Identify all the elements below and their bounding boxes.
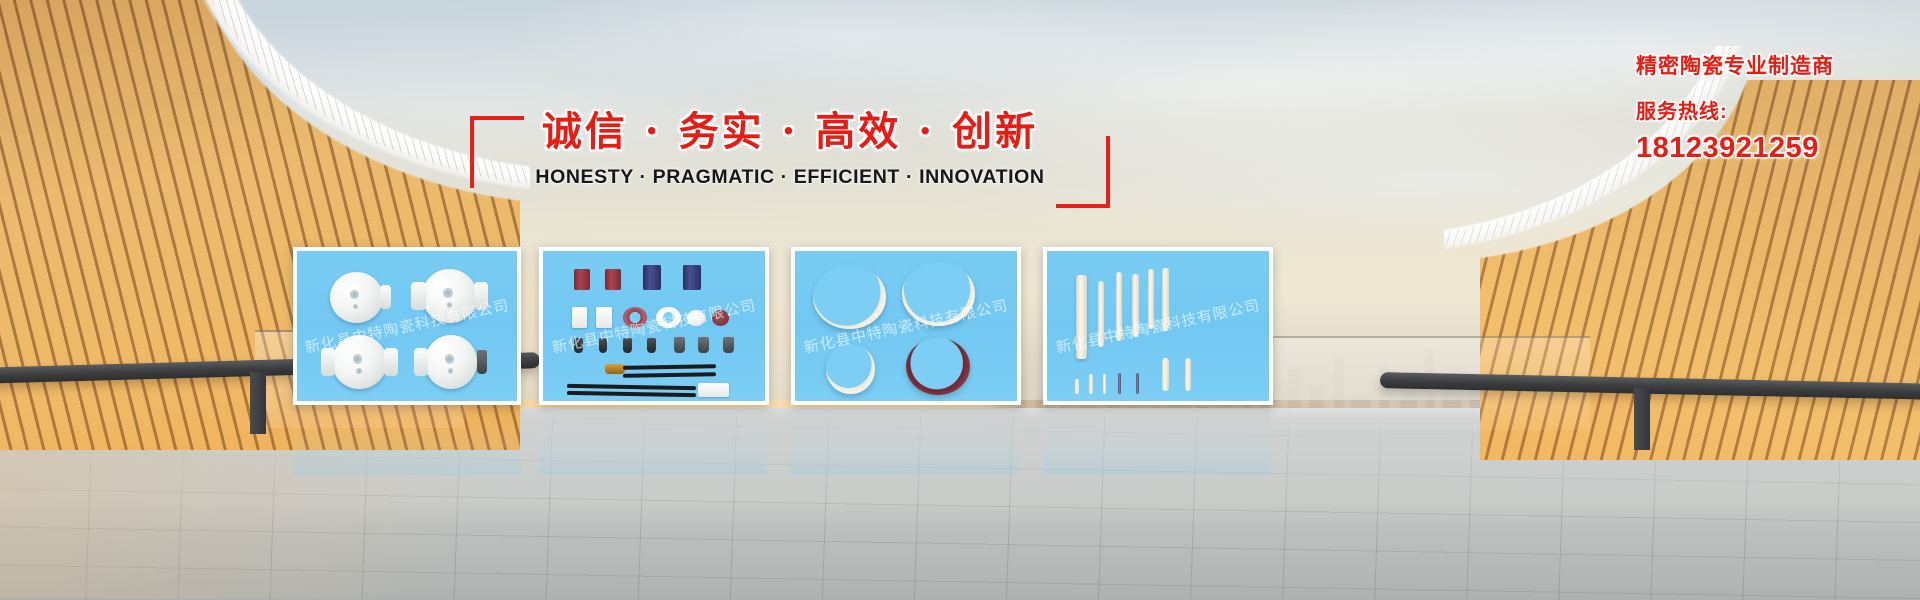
panel-reflection-3 <box>791 405 1019 475</box>
hotline-label: 服务热线: <box>1636 98 1834 126</box>
slogan-chinese: 诚信 · 务实 · 高效 · 创新 <box>530 108 1050 156</box>
panel-reflection-2 <box>539 405 767 475</box>
company-tagline: 精密陶瓷专业制造商 <box>1636 52 1834 82</box>
panel-reflection-1 <box>293 405 521 475</box>
product-panel-ceramic-rods[interactable]: 新化县中特陶瓷科技有限公司 <box>1043 247 1273 405</box>
slogan-english: HONESTY · PRAGMATIC · EFFICIENT · INNOVA… <box>530 166 1050 189</box>
product-panel-ceramic-lamp-holders[interactable]: 新化县中特陶瓷科技有限公司 <box>293 247 521 405</box>
bracket-top-left <box>470 116 524 188</box>
contact-block: 精密陶瓷专业制造商 服务热线: 18123921259 <box>1636 52 1834 166</box>
product-panel-ceramic-rings[interactable]: 新化县中特陶瓷科技有限公司 <box>791 247 1021 405</box>
panel-reflection-4 <box>1043 405 1271 475</box>
right-handrail-post <box>1634 388 1650 450</box>
product-panel-ceramic-components[interactable]: 新化县中特陶瓷科技有限公司 <box>539 247 769 405</box>
left-handrail-post <box>250 372 266 434</box>
bracket-bottom-right <box>1056 136 1110 208</box>
product-panel-row: 新化县中特陶瓷科技有限公司 <box>293 247 1277 405</box>
slogan-block: 诚信 · 务实 · 高效 · 创新 HONESTY · PRAGMATIC · … <box>470 108 1110 208</box>
hero-banner: 诚信 · 务实 · 高效 · 创新 HONESTY · PRAGMATIC · … <box>0 0 1920 600</box>
hotline-number[interactable]: 18123921259 <box>1636 130 1834 166</box>
